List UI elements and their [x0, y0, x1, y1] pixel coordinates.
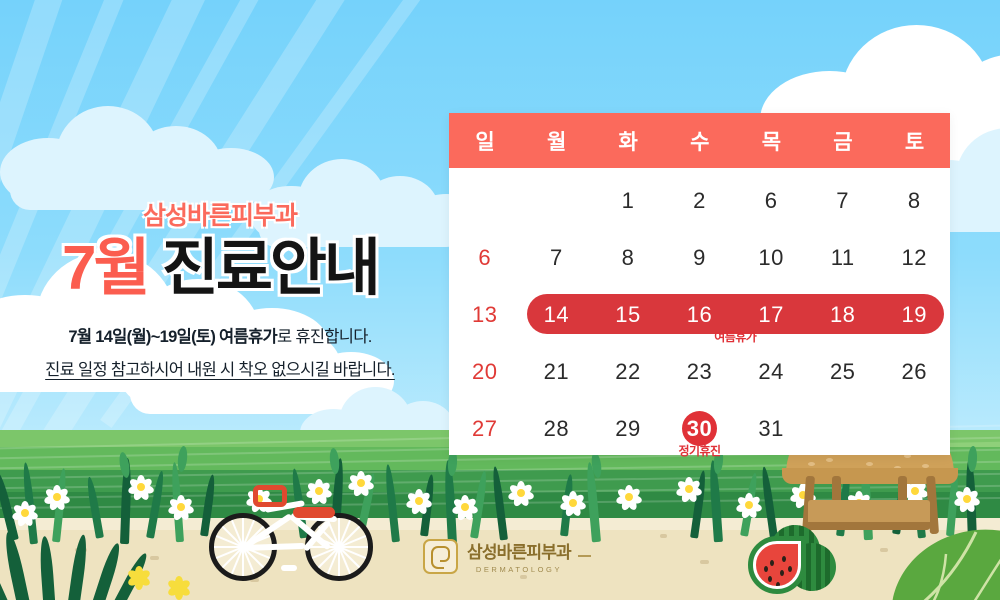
calendar-day-number: 10 [758, 245, 783, 271]
calendar-weekday-4: 목 [735, 113, 807, 168]
clinic-logo-mark-icon [423, 539, 458, 574]
yellow-flower-icon [168, 576, 190, 598]
calendar-day-empty [521, 172, 593, 229]
calendar-day-10[interactable]: 10 [735, 229, 807, 286]
calendar-day-number: 19 [902, 302, 927, 328]
poster-canvas: 삼성바른피부과 7월 진료안내 7월 14일(월)~19일(토) 여름휴가로 휴… [0, 0, 1000, 600]
calendar-day-number: 21 [544, 359, 569, 385]
clinic-logo-text: 삼성바른피부과 DERMATOLOGY [467, 538, 571, 574]
calendar-day-7[interactable]: 7 [521, 229, 593, 286]
calendar-day-number: 7 [836, 188, 849, 214]
calendar-weekday-2: 화 [592, 113, 664, 168]
daisy-flower-icon [676, 476, 702, 502]
clinic-name: 삼성바른피부과 [467, 538, 571, 563]
calendar-day-number: 14 [544, 302, 569, 328]
calendar-day-number: 6 [478, 245, 491, 271]
calendar-day-number: 31 [758, 416, 783, 442]
calendar-day-number: 9 [693, 245, 706, 271]
calendar-day-27[interactable]: 27 [449, 400, 521, 457]
thatch-tuft [826, 458, 833, 462]
calendar-day-22[interactable]: 22 [592, 343, 664, 400]
closed-note: 정기휴진 [664, 442, 736, 459]
daisy-flower-icon [736, 492, 762, 518]
logo-dash [578, 555, 591, 557]
calendar-day-number: 2 [693, 188, 706, 214]
calendar-weekday-0: 일 [449, 113, 521, 168]
calendar-day-number: 8 [622, 245, 635, 271]
calendar-day-26[interactable]: 26 [878, 343, 950, 400]
calendar-weekday-header: 일월화수목금토 [449, 113, 950, 168]
calendar-day-empty [807, 400, 879, 457]
calendar-day-number: 1 [622, 188, 635, 214]
calendar-day-number: 16 [687, 302, 712, 328]
calendar-day-6[interactable]: 6 [449, 229, 521, 286]
description-line-1: 7월 14일(월)~19일(토) 여름휴가로 휴진합니다. [0, 323, 440, 347]
calendar-day-number: 22 [615, 359, 640, 385]
calendar-day-number: 7 [550, 245, 563, 271]
calendar-day-24[interactable]: 24 [735, 343, 807, 400]
calendar-day-25[interactable]: 25 [807, 343, 879, 400]
calendar-week-row: 20212223242526 [449, 343, 950, 400]
calendar-day-29[interactable]: 29 [592, 400, 664, 457]
daisy-flower-icon [168, 494, 194, 520]
cloud-icon [0, 96, 260, 206]
calendar-day-number: 30 [682, 411, 717, 446]
daisy-flower-icon [452, 494, 478, 520]
bicycle-icon [205, 477, 380, 585]
pebble [520, 575, 527, 579]
calendar-day-8[interactable]: 8 [878, 172, 950, 229]
calendar-weekday-5: 금 [807, 113, 879, 168]
calendar-week-row: 6789101112 [449, 229, 950, 286]
calendar-day-empty [878, 400, 950, 457]
watermelon-stripe [825, 543, 830, 591]
calendar-day-20[interactable]: 20 [449, 343, 521, 400]
headline-month: 7월 [62, 234, 148, 303]
daisy-flower-icon [12, 500, 38, 526]
pebble [700, 560, 709, 564]
daisy-flower-icon [128, 474, 154, 500]
calendar-day-number: 28 [544, 416, 569, 442]
daisy-flower-icon [44, 484, 70, 510]
calendar-day-number: 27 [472, 416, 497, 442]
description-block: 7월 14일(월)~19일(토) 여름휴가로 휴진합니다. 진료 일정 참고하시… [0, 323, 440, 380]
calendar-day-empty [449, 172, 521, 229]
thatch-tuft [808, 462, 815, 466]
bicycle-pedal [281, 565, 297, 571]
calendar-day-9[interactable]: 9 [664, 229, 736, 286]
calendar-day-number: 25 [830, 359, 855, 385]
calendar-card: 일월화수목금토 126786789101112여름휴가1314151617181… [449, 113, 950, 455]
calendar-day-number: 17 [758, 302, 783, 328]
calendar-weekday-1: 월 [521, 113, 593, 168]
bicycle-seat [293, 507, 335, 518]
thatch-tuft [866, 462, 873, 466]
calendar-day-7[interactable]: 7 [807, 172, 879, 229]
calendar-body: 126786789101112여름휴가131415161718192021222… [449, 168, 950, 457]
pebble [660, 534, 667, 538]
watermelon-rind [748, 536, 806, 594]
bicycle-wheel [305, 513, 373, 581]
page-title: 7월 진료안내 [0, 236, 440, 301]
calendar-day-number: 23 [687, 359, 712, 385]
calendar-day-23[interactable]: 23 [664, 343, 736, 400]
clinic-logo: 삼성바른피부과 DERMATOLOGY [423, 538, 591, 574]
pebble [150, 556, 159, 560]
calendar-day-6[interactable]: 6 [735, 172, 807, 229]
calendar-weekday-6: 토 [878, 113, 950, 168]
calendar-week-row: 12678 [449, 172, 950, 229]
calendar-day-31[interactable]: 31 [735, 400, 807, 457]
big-leaf-icon [880, 520, 1000, 600]
watermelon-stripe [816, 543, 821, 591]
calendar-day-2[interactable]: 2 [664, 172, 736, 229]
calendar-day-number: 26 [902, 359, 927, 385]
description-line-1-rest: 로 휴진합니다. [277, 328, 372, 346]
brand-line: 삼성바른피부과 [0, 196, 440, 232]
calendar-day-number: 15 [615, 302, 640, 328]
calendar-day-number: 29 [615, 416, 640, 442]
yellow-flower-icon [128, 566, 150, 588]
description-line-1-bold: 7월 14일(월)~19일(토) 여름휴가 [68, 328, 277, 346]
calendar-day-13[interactable]: 13 [449, 286, 521, 343]
calendar-day-number: 20 [472, 359, 497, 385]
calendar-day-number: 8 [908, 188, 921, 214]
calendar-day-number: 13 [472, 302, 497, 328]
clinic-subtitle: DERMATOLOGY [467, 565, 571, 574]
headline-rest: 진료안내 [162, 234, 378, 303]
bicycle-handlebar [253, 485, 287, 507]
bicycle-frame-bar [243, 543, 305, 551]
calendar-day-8[interactable]: 8 [592, 229, 664, 286]
calendar-day-number: 24 [758, 359, 783, 385]
description-line-2: 진료 일정 참고하시어 내원 시 착오 없으시길 바랍니다. [0, 356, 440, 380]
daisy-flower-icon [406, 488, 432, 514]
calendar-week-row: 27282930정기휴진31 [449, 400, 950, 457]
calendar-day-11[interactable]: 11 [807, 229, 879, 286]
watermelon-stripe [806, 543, 811, 591]
daisy-flower-icon [560, 490, 586, 516]
calendar-day-30[interactable]: 30정기휴진 [664, 400, 736, 457]
daisy-flower-icon [616, 484, 642, 510]
daisy-flower-icon [508, 480, 534, 506]
headline-block: 삼성바른피부과 7월 진료안내 7월 14일(월)~19일(토) 여름휴가로 휴… [0, 196, 440, 380]
calendar-day-21[interactable]: 21 [521, 343, 593, 400]
calendar-day-28[interactable]: 28 [521, 400, 593, 457]
calendar-weekday-3: 수 [664, 113, 736, 168]
calendar-day-1[interactable]: 1 [592, 172, 664, 229]
calendar-day-number: 12 [902, 245, 927, 271]
calendar-day-12[interactable]: 12 [878, 229, 950, 286]
calendar-week-row: 여름휴가13141516171819 [449, 286, 950, 343]
calendar-day-number: 6 [765, 188, 778, 214]
vacation-note: 여름휴가 [521, 328, 950, 345]
calendar-day-number: 18 [830, 302, 855, 328]
wheel-hub [335, 543, 344, 552]
calendar-day-number: 11 [831, 245, 855, 271]
